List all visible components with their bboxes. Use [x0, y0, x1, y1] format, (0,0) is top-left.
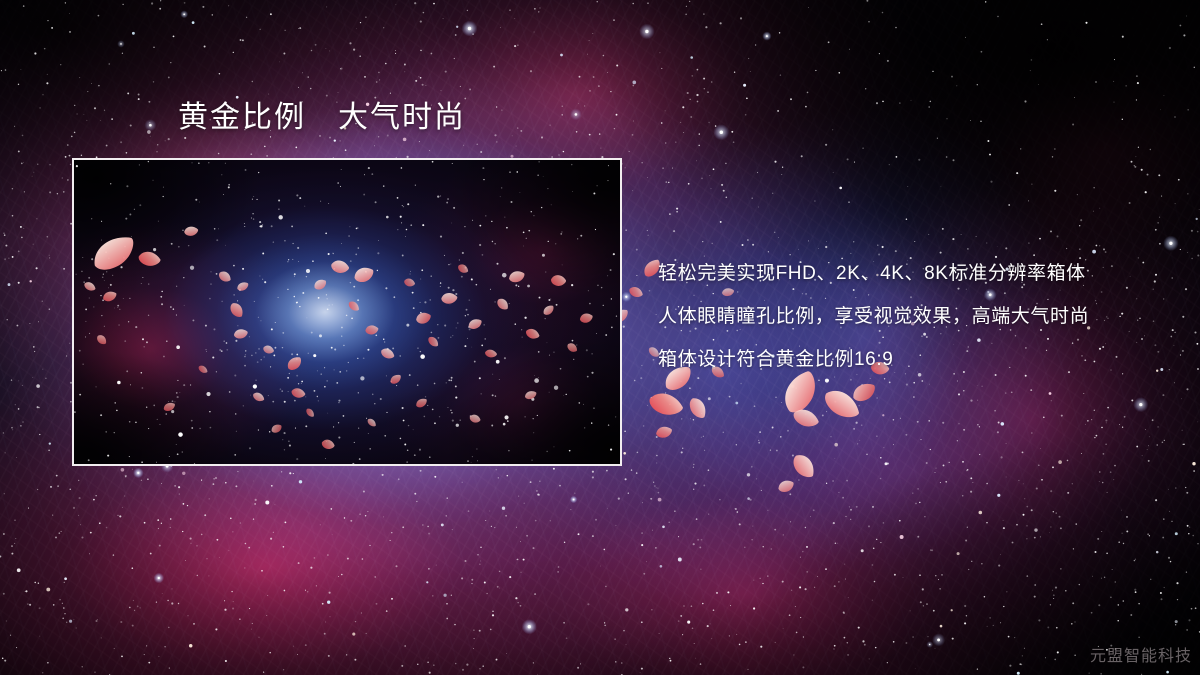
framed-preview-panel [72, 158, 622, 466]
body-copy-line-3: 箱体设计符合黄金比例16:9 [658, 338, 1168, 381]
body-copy-line-2: 人体眼睛瞳孔比例，享受视觉效果，高端大气时尚 [658, 295, 1168, 338]
panel-petal-layer [74, 160, 620, 464]
body-copy-block: 轻松完美实现FHD、2K、4K、8K标准分辨率箱体 人体眼睛瞳孔比例，享受视觉效… [658, 252, 1168, 381]
slide-title: 黄金比例 大气时尚 [178, 100, 466, 136]
body-copy-line-1: 轻松完美实现FHD、2K、4K、8K标准分辨率箱体 [658, 252, 1168, 295]
presentation-slide: 黄金比例 大气时尚 轻松完美实现FHD、2K、4K、8K标准分辨率箱体 人体眼睛… [0, 0, 1200, 675]
panel-inner [74, 160, 620, 464]
watermark: 元盟智能科技 [1090, 642, 1192, 666]
